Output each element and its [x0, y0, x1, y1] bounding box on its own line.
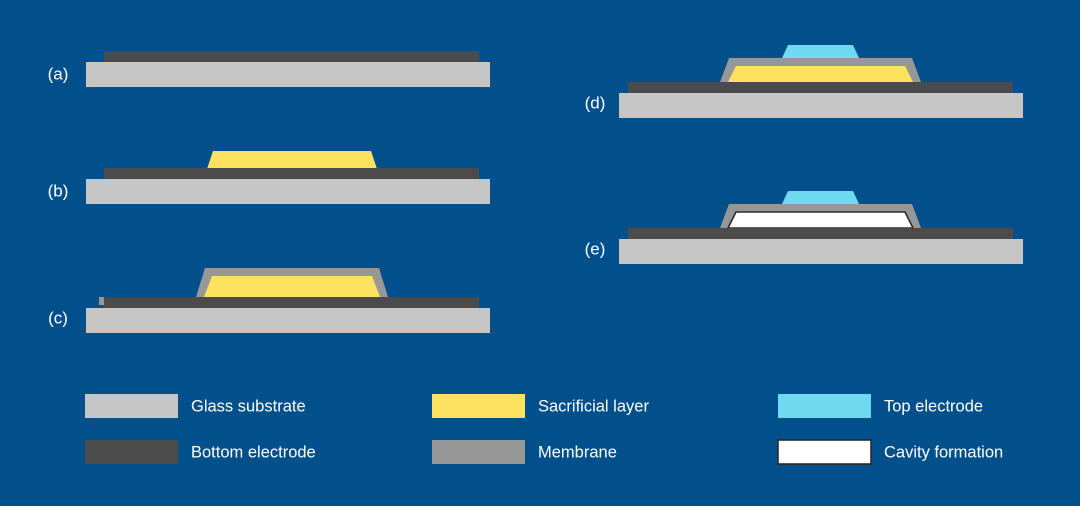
panel-e-glass-substrate: [619, 239, 1023, 264]
legend-label-membrane: Membrane: [538, 443, 617, 461]
legend-item-bottom-electrode: Bottom electrode: [85, 440, 316, 464]
panel-a-label: (a): [48, 64, 69, 83]
bottom-electrode-swatch: [85, 440, 178, 464]
panel-e-label: (e): [585, 239, 606, 258]
panel-d-bottom-electrode: [628, 82, 1013, 93]
panel-b-bottom-electrode: [104, 168, 479, 179]
top-electrode-swatch: [778, 394, 871, 418]
membrane-swatch: [432, 440, 525, 464]
panel-a-bottom-electrode: [104, 51, 479, 62]
cavity-formation-swatch: [778, 440, 871, 464]
legend-label-sacrificial-layer: Sacrificial layer: [538, 397, 649, 415]
legend-label-top-electrode: Top electrode: [884, 397, 983, 415]
legend-item-cavity-formation: Cavity formation: [778, 440, 1003, 464]
process-flow-diagram: (a) (b) (c) (d) (e): [0, 0, 1080, 506]
panel-c-glass-substrate: [86, 308, 490, 333]
legend-item-glass-substrate: Glass substrate: [85, 394, 306, 418]
panel-e-cavity: [728, 212, 913, 228]
sacrificial-layer-swatch: [432, 394, 525, 418]
panel-d-sacrificial-layer: [728, 66, 913, 82]
panel-d-label: (d): [585, 93, 606, 112]
panel-e-top-electrode: [782, 191, 859, 204]
panel-e-bottom-electrode: [628, 228, 1013, 239]
glass-substrate-swatch: [85, 394, 178, 418]
panel-a-glass-substrate: [86, 62, 490, 87]
panel-b-label: (b): [48, 181, 69, 200]
legend-item-membrane: Membrane: [432, 440, 617, 464]
panel-d-glass-substrate: [619, 93, 1023, 118]
panel-d-top-electrode: [782, 45, 859, 58]
panel-c-sacrificial-layer: [204, 276, 380, 297]
legend-label-cavity-formation: Cavity formation: [884, 443, 1003, 461]
legend-label-bottom-electrode: Bottom electrode: [191, 443, 316, 461]
legend-item-sacrificial-layer: Sacrificial layer: [432, 394, 649, 418]
panel-a: (a): [48, 51, 490, 87]
panel-c-bottom-electrode: [104, 297, 479, 308]
panel-c-label: (c): [48, 308, 68, 327]
panel-b-glass-substrate: [86, 179, 490, 204]
legend-label-glass-substrate: Glass substrate: [191, 397, 306, 415]
